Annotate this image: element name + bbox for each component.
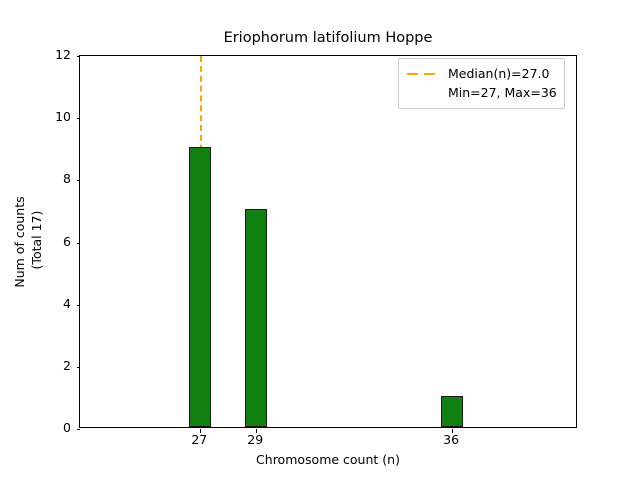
chart-legend: Median(n)=27.0 Min=27, Max=36: [398, 58, 565, 109]
y-tick-label: 6: [31, 235, 71, 248]
y-tick-label: 8: [31, 172, 71, 185]
chart-figure: Eriophorum latifolium Hoppe Num of count…: [0, 0, 640, 480]
y-tick-label: 4: [31, 297, 71, 310]
chart-title: Eriophorum latifolium Hoppe: [79, 29, 577, 47]
bar-29: [245, 209, 267, 427]
legend-entry-median: Median(n)=27.0: [406, 64, 557, 83]
y-tick-mark: [77, 429, 81, 430]
x-axis-label: Chromosome count (n): [79, 452, 577, 467]
plot-area: [79, 55, 577, 428]
y-tick-label: 10: [31, 110, 71, 123]
y-tick-mark: [77, 367, 81, 368]
y-tick-label: 2: [31, 359, 71, 372]
plot-inner: [80, 56, 576, 427]
y-tick-label: 0: [31, 421, 71, 434]
bar-36: [441, 396, 463, 427]
y-tick-mark: [77, 180, 81, 181]
y-tick-mark: [77, 243, 81, 244]
bar-27: [189, 147, 211, 427]
legend-entry-minmax: Min=27, Max=36: [406, 83, 557, 102]
x-tick-label: 36: [421, 433, 481, 447]
x-tick-label: 29: [225, 433, 285, 447]
legend-label-median: Median(n)=27.0: [448, 67, 549, 81]
y-tick-mark: [77, 56, 81, 57]
y-tick-label: 12: [31, 48, 71, 61]
x-tick-label: 27: [169, 433, 229, 447]
dashed-line-icon: [406, 68, 439, 80]
y-tick-mark: [77, 305, 81, 306]
y-tick-mark: [77, 118, 81, 119]
legend-label-minmax: Min=27, Max=36: [448, 86, 557, 100]
